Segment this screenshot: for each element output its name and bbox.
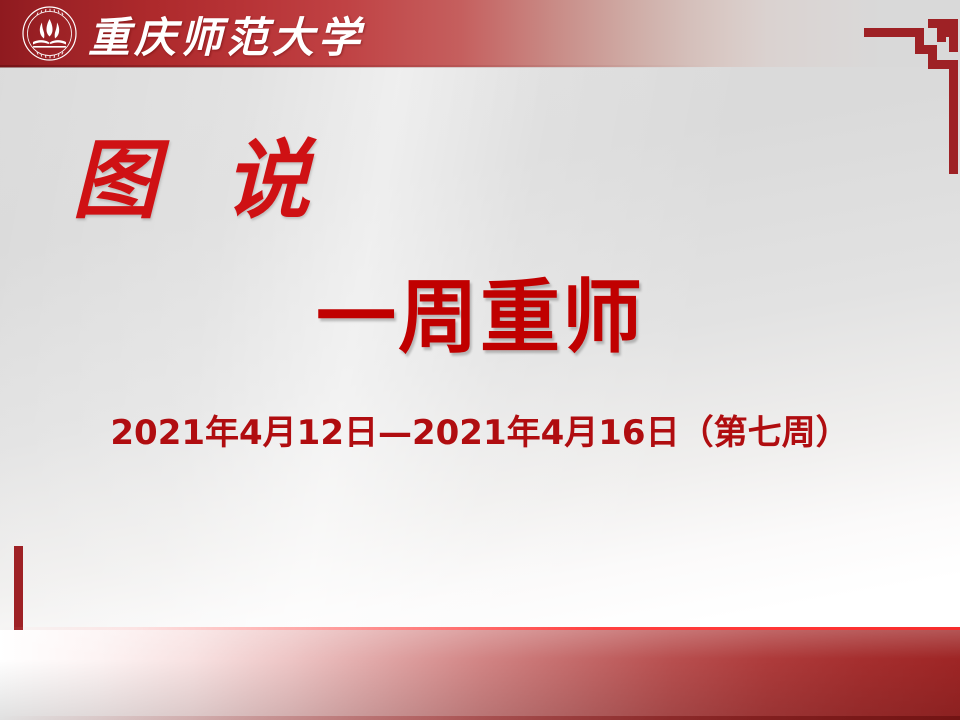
presentation-slide: 重庆师范大学 — [0, 0, 960, 720]
university-name: 重庆师范大学 — [88, 3, 364, 65]
main-title: 一周重师 — [0, 278, 960, 358]
corner-ornament-top-right — [864, 6, 960, 178]
seal-title: 图 说 — [72, 138, 328, 224]
header-band-shadow — [0, 65, 960, 68]
date-range-subtitle: 2021年4月12日—2021年4月16日（第七周） — [0, 413, 960, 454]
footer-gradient-band — [0, 630, 960, 720]
university-seal-logo — [22, 6, 77, 61]
footer-band-base-shadow — [0, 716, 960, 720]
